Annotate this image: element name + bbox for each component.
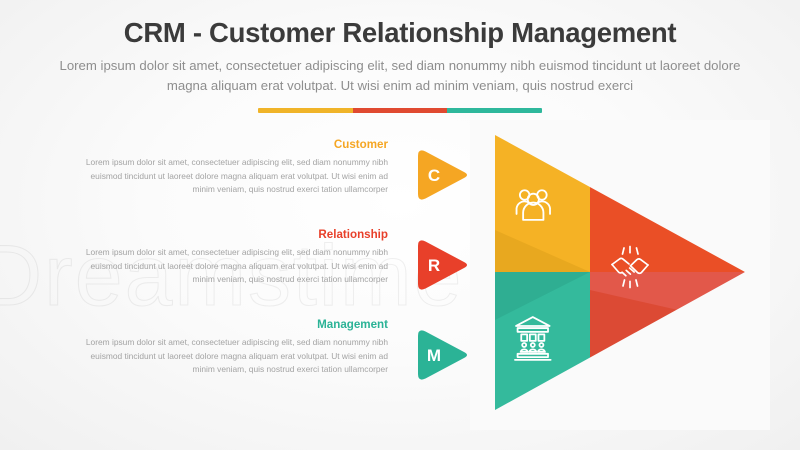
row-relationship[interactable]: Relationship Lorem ipsum dolor sit amet,…	[0, 228, 480, 318]
row-title-management: Management	[83, 318, 388, 336]
row-description-relationship: Lorem ipsum dolor sit amet, consectetuer…	[83, 246, 388, 287]
row-management[interactable]: Management Lorem ipsum dolor sit amet, c…	[0, 318, 480, 408]
accent-divider	[258, 108, 542, 113]
badge-letter-customer: C	[428, 166, 440, 185]
badge-letter-management: M	[427, 346, 441, 365]
crm-triangle-diagram	[470, 120, 770, 430]
badge-letter-relationship: R	[428, 256, 440, 275]
content-rows: Customer Lorem ipsum dolor sit amet, con…	[0, 138, 480, 408]
badge-relationship[interactable]: R	[410, 236, 472, 294]
row-description-customer: Lorem ipsum dolor sit amet, consectetuer…	[83, 156, 388, 197]
row-title-relationship: Relationship	[83, 228, 388, 246]
row-description-management: Lorem ipsum dolor sit amet, consectetuer…	[83, 336, 388, 377]
play-triangle-shape-management	[418, 330, 467, 379]
row-customer[interactable]: Customer Lorem ipsum dolor sit amet, con…	[0, 138, 480, 228]
divider-segment-yellow	[258, 108, 353, 113]
row-title-customer: Customer	[83, 138, 388, 156]
row-text-relationship: Relationship Lorem ipsum dolor sit amet,…	[83, 228, 388, 287]
badge-customer[interactable]: C	[410, 146, 472, 204]
page-title: CRM - Customer Relationship Management	[0, 0, 800, 49]
divider-segment-red	[353, 108, 448, 113]
play-triangle-shape-relationship	[418, 240, 467, 289]
header: CRM - Customer Relationship Management L…	[0, 0, 800, 113]
row-text-management: Management Lorem ipsum dolor sit amet, c…	[83, 318, 388, 377]
divider-segment-teal	[447, 108, 542, 113]
row-text-customer: Customer Lorem ipsum dolor sit amet, con…	[83, 138, 388, 197]
play-triangle-shape-customer	[418, 150, 467, 199]
badge-management[interactable]: M	[410, 326, 472, 384]
page-subtitle: Lorem ipsum dolor sit amet, consectetuer…	[50, 49, 750, 97]
